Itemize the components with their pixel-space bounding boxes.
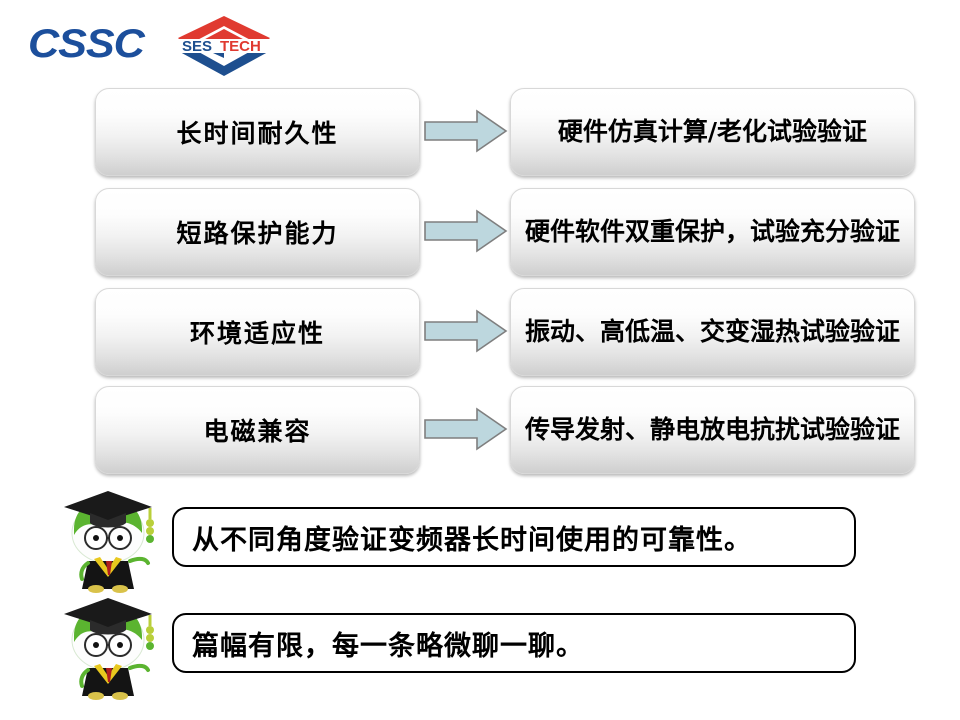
note-callout-1: 从不同角度验证变频器长时间使用的可靠性。 (172, 507, 856, 567)
right-arrow-icon (423, 308, 508, 354)
row-arrow-3 (423, 308, 508, 354)
row-arrow-2 (423, 208, 508, 254)
svg-text:SES: SES (182, 38, 212, 55)
left-box-2[interactable]: 短路保护能力 (95, 188, 420, 276)
slide-root: CSSC SES TECH 长时间耐久性 硬件仿真计算/老化试 (0, 0, 960, 720)
svg-text:TECH: TECH (220, 38, 261, 55)
row-arrow-4 (423, 406, 508, 452)
right-box-1[interactable]: 硬件仿真计算/老化试验验证 (510, 88, 915, 176)
right-box-4[interactable]: 传导发射、静电放电抗扰试验验证 (510, 386, 915, 474)
row-arrow-1 (423, 108, 508, 154)
right-arrow-icon (423, 208, 508, 254)
right-arrow-icon (423, 108, 508, 154)
cssc-logo: CSSC (28, 22, 144, 67)
left-box-3[interactable]: 环境适应性 (95, 288, 420, 376)
graduate-mascot-icon (52, 485, 172, 593)
graduate-mascot-1 (52, 485, 172, 593)
graduate-mascot-icon (52, 592, 172, 700)
sestech-logo: SES TECH (172, 12, 276, 78)
sestech-logo-icon: SES TECH (172, 12, 276, 78)
graduate-mascot-2 (52, 592, 172, 700)
left-box-1[interactable]: 长时间耐久性 (95, 88, 420, 176)
left-box-4[interactable]: 电磁兼容 (95, 386, 420, 474)
right-arrow-icon (423, 406, 508, 452)
logo-bar: CSSC SES TECH (0, 0, 960, 80)
right-box-3[interactable]: 振动、高低温、交变湿热试验验证 (510, 288, 915, 376)
note-callout-2: 篇幅有限，每一条略微聊一聊。 (172, 613, 856, 673)
right-box-2[interactable]: 硬件软件双重保护，试验充分验证 (510, 188, 915, 276)
